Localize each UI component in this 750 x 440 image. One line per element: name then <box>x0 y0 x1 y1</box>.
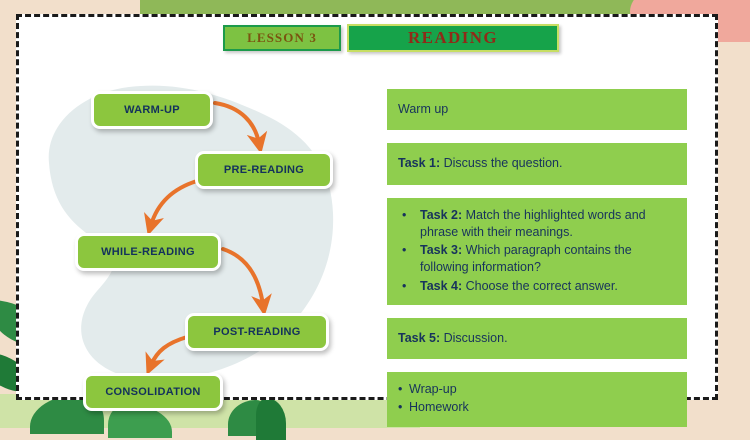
task-text: Discuss the question. <box>440 156 562 170</box>
task-label: Task 3: <box>420 243 462 257</box>
task-list: • Task 2: Match the highlighted words an… <box>398 207 676 295</box>
wrap-up-list: • Wrap-up • Homework <box>398 381 676 417</box>
panel-task-1: Task 1: Discuss the question. <box>387 143 687 184</box>
lesson-badge-label: LESSON 3 <box>247 30 317 46</box>
panel-wrap-up: • Wrap-up • Homework <box>387 372 687 427</box>
bullet-icon: • <box>398 242 420 259</box>
list-item: • Task 4: Choose the correct answer. <box>398 278 676 295</box>
lesson-stage-flowchart: WARM-UP PRE-READING WHILE-READING POST-R… <box>19 53 359 403</box>
flow-step-label: PRE-READING <box>224 164 304 176</box>
reading-title-label: READING <box>408 28 498 48</box>
flow-step-label: POST-READING <box>213 326 300 338</box>
panel-text: Warm up <box>398 102 448 116</box>
flow-step-label: WHILE-READING <box>101 246 195 258</box>
task-label: Task 4: <box>420 279 462 293</box>
panel-warm-up: Warm up <box>387 89 687 130</box>
bullet-icon: • <box>398 399 409 416</box>
bullet-icon: • <box>398 381 409 398</box>
panel-tasks-2-4: • Task 2: Match the highlighted words an… <box>387 198 687 305</box>
task-label: Task 2: <box>420 208 462 222</box>
bullet-icon: • <box>398 207 420 224</box>
list-item-text: Task 2: Match the highlighted words and … <box>420 207 676 242</box>
bullet-icon: • <box>398 278 420 295</box>
list-item: • Homework <box>398 399 676 416</box>
list-item: • Task 3: Which paragraph contains the f… <box>398 242 676 277</box>
list-item-text: Homework <box>409 399 676 416</box>
lesson-badge: LESSON 3 <box>223 25 341 51</box>
panel-task-5: Task 5: Discussion. <box>387 318 687 359</box>
task-label: Task 1: <box>398 156 440 170</box>
list-item-text: Task 4: Choose the correct answer. <box>420 278 676 295</box>
flow-step-while-reading[interactable]: WHILE-READING <box>75 233 221 271</box>
flow-step-post-reading[interactable]: POST-READING <box>185 313 329 351</box>
flow-step-pre-reading[interactable]: PRE-READING <box>195 151 333 189</box>
flow-step-warm-up[interactable]: WARM-UP <box>91 91 213 129</box>
list-item-text: Task 3: Which paragraph contains the fol… <box>420 242 676 277</box>
task-text: Discussion. <box>440 331 507 345</box>
list-item: • Wrap-up <box>398 381 676 398</box>
flow-step-label: CONSOLIDATION <box>105 386 200 398</box>
lesson-content-panels: Warm up Task 1: Discuss the question. • … <box>387 89 687 440</box>
list-item-text: Wrap-up <box>409 381 676 398</box>
reading-title-badge: READING <box>347 24 559 52</box>
flow-step-consolidation[interactable]: CONSOLIDATION <box>83 373 223 411</box>
task-text: Choose the correct answer. <box>462 279 618 293</box>
flow-step-label: WARM-UP <box>124 104 180 116</box>
slide-root: LESSON 3 READING WARM-UP <box>0 0 750 428</box>
task-label: Task 5: <box>398 331 440 345</box>
slide-frame: LESSON 3 READING WARM-UP <box>16 14 718 400</box>
list-item: • Task 2: Match the highlighted words an… <box>398 207 676 242</box>
